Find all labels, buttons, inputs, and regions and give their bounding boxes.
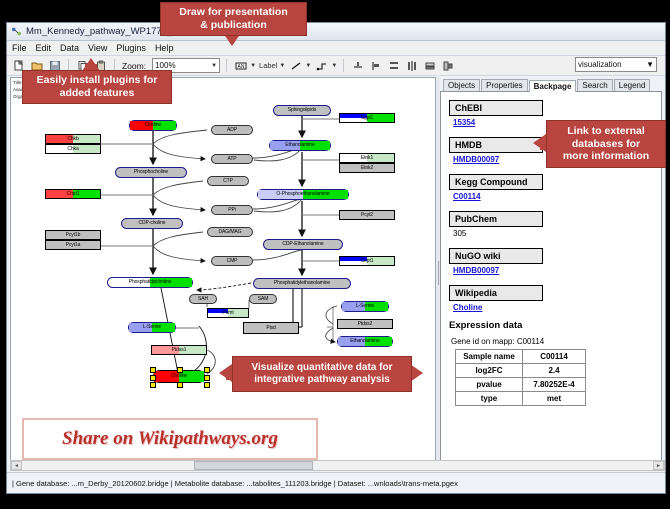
node-label: Chkb bbox=[67, 137, 78, 142]
selection-handle[interactable] bbox=[150, 367, 156, 373]
menu-edit[interactable]: Edit bbox=[36, 43, 52, 53]
selection-handle[interactable] bbox=[204, 382, 210, 388]
backpage-link-kegg[interactable]: C00114 bbox=[453, 192, 653, 201]
datanode-tool-group[interactable]: AN ▼ bbox=[233, 58, 256, 73]
align-left-icon[interactable] bbox=[368, 58, 383, 73]
toolbar-separator bbox=[226, 59, 227, 72]
table-cell-key: pvalue bbox=[456, 378, 523, 392]
node-ppi[interactable]: PPi bbox=[211, 205, 253, 215]
node-label: L-Serine bbox=[356, 304, 374, 309]
menu-file[interactable]: File bbox=[12, 43, 27, 53]
node-label: Phosphocholine bbox=[134, 170, 168, 175]
node-atp[interactable]: ATP bbox=[211, 154, 253, 164]
chevron-down-icon[interactable]: ▼ bbox=[279, 63, 285, 69]
callout-visualize-line1: Visualize quantitative data for bbox=[252, 362, 393, 374]
callout-draw: Draw for presentation & publication bbox=[160, 2, 307, 36]
node-label: Ethanolamine bbox=[350, 339, 379, 344]
node-label: SAH bbox=[198, 297, 208, 302]
node-l-serine-right[interactable]: L-Serine bbox=[341, 301, 389, 312]
gene-pcyt1a[interactable]: Pcyt1a bbox=[45, 240, 101, 250]
node-label: Pcyt1b bbox=[66, 233, 81, 238]
gene-id-line: Gene id on mapp: C00114 bbox=[451, 337, 653, 346]
menu-view[interactable]: View bbox=[88, 43, 107, 53]
zoom-label: Zoom: bbox=[122, 61, 146, 71]
node-phosphatidylcholine[interactable]: Phosphatidylcholine bbox=[107, 277, 193, 288]
table-cell-key: type bbox=[456, 392, 523, 406]
order-icon[interactable] bbox=[440, 58, 455, 73]
node-label: Etnk1 bbox=[361, 156, 373, 161]
statusbar: | Gene database: ...m_Derby_20120602.bri… bbox=[7, 472, 665, 493]
gene-cept1[interactable]: Cept1 bbox=[339, 256, 395, 266]
callout-plugins: Easily install plugins for added feature… bbox=[22, 70, 172, 104]
node-label: PPi bbox=[228, 208, 235, 213]
datanode-icon[interactable]: AN bbox=[233, 58, 248, 73]
node-label: CDP-choline bbox=[139, 221, 166, 226]
table-cell-value: 7.80252E-4 bbox=[523, 378, 586, 392]
node-cdp-choline[interactable]: CDP-choline bbox=[121, 218, 183, 229]
node-adp[interactable]: ADP bbox=[211, 125, 253, 135]
gene-etnk2[interactable]: Etnk2 bbox=[339, 163, 395, 173]
node-dag-mag[interactable]: DAG/MAG bbox=[207, 227, 253, 237]
node-sam[interactable]: SAM bbox=[249, 294, 277, 304]
backpage-link-nugo[interactable]: HMDB00097 bbox=[453, 266, 653, 275]
selection-handle[interactable] bbox=[150, 375, 156, 381]
node-label: Choline bbox=[171, 374, 187, 379]
visualization-combobox[interactable]: visualization ▼ bbox=[575, 57, 657, 72]
toolbar-separator bbox=[343, 59, 344, 72]
backpage-header-hmdb: HMDB bbox=[449, 137, 543, 153]
node-label: ATP bbox=[227, 157, 236, 162]
visualization-value: visualization bbox=[578, 60, 622, 69]
callout-link-line3: more information bbox=[563, 150, 649, 163]
gene-etnk1[interactable]: Etnk1 bbox=[339, 153, 395, 163]
node-cdp-ethanolamine[interactable]: CDP-Ethanolamine bbox=[263, 239, 343, 250]
node-label: Cept1 bbox=[361, 259, 374, 264]
label-tool-group[interactable]: Label ▼ bbox=[259, 61, 285, 70]
node-sphingolipids[interactable]: Sphingolipids bbox=[273, 105, 331, 116]
share-banner: Share on Wikipathways.org bbox=[22, 418, 318, 460]
menu-help[interactable]: Help bbox=[155, 43, 174, 53]
node-label: Phosphatidylethanolamine bbox=[274, 281, 330, 286]
chevron-down-icon: ▼ bbox=[211, 63, 217, 69]
chevron-down-icon[interactable]: ▼ bbox=[250, 63, 256, 69]
node-label: SAM bbox=[258, 297, 269, 302]
selection-handle[interactable] bbox=[150, 382, 156, 388]
node-label: Ethanolamine bbox=[285, 143, 314, 148]
line-icon[interactable] bbox=[288, 58, 303, 73]
gene-sgpl1[interactable]: Sgpl1 bbox=[339, 113, 395, 123]
align-columns-icon[interactable] bbox=[404, 58, 419, 73]
connector-tool-group[interactable]: ▼ bbox=[314, 58, 337, 73]
node-label: Pcyt1a bbox=[66, 243, 81, 248]
selection-handle[interactable] bbox=[204, 367, 210, 373]
chevron-down-icon: ▼ bbox=[646, 60, 654, 69]
node-label: Ptdss2 bbox=[358, 322, 373, 327]
node-l-serine-left[interactable]: L-Serine bbox=[128, 322, 176, 333]
node-sah[interactable]: SAH bbox=[189, 294, 217, 304]
tab-properties[interactable]: Properties bbox=[481, 79, 527, 91]
screenshot-root: Mm_Kennedy_pathway_WP1771_45176.gpml Fil… bbox=[0, 0, 670, 509]
callout-plugins-line1: Easily install plugins for bbox=[37, 74, 158, 87]
node-label: ADP bbox=[227, 128, 237, 133]
scroll-left-icon[interactable]: ◄ bbox=[11, 461, 22, 470]
table-row: log2FC 2.4 bbox=[456, 364, 586, 378]
node-label: CMP bbox=[227, 259, 238, 264]
chevron-down-icon[interactable]: ▼ bbox=[305, 63, 311, 69]
menubar[interactable]: File Edit Data View Plugins Help bbox=[7, 41, 665, 56]
menu-plugins[interactable]: Plugins bbox=[116, 43, 146, 53]
gene-chkb[interactable]: Chkb bbox=[45, 134, 101, 144]
gene-pisd[interactable]: Pisd bbox=[243, 322, 299, 334]
gene-ptdss2[interactable]: Ptdss2 bbox=[337, 319, 393, 329]
svg-text:AN: AN bbox=[237, 64, 244, 70]
status-text: | Gene database: ...m_Derby_20120602.bri… bbox=[7, 479, 458, 488]
side-tabstrip[interactable]: Objects Properties Backpage Search Legen… bbox=[440, 77, 662, 92]
scrollbar-thumb[interactable] bbox=[194, 461, 314, 470]
pathway-canvas[interactable]: Title: Availa Organi bbox=[10, 77, 436, 469]
table-row: Sample name C00114 bbox=[456, 350, 586, 364]
table-cell-value: met bbox=[523, 392, 586, 406]
table-cell-key: Sample name bbox=[456, 350, 523, 364]
gene-chpt1[interactable]: Chpt1 bbox=[45, 189, 101, 199]
window-titlebar: Mm_Kennedy_pathway_WP1771_45176.gpml bbox=[7, 23, 665, 41]
node-ethanolamine-lower[interactable]: Ethanolamine bbox=[337, 336, 393, 347]
gene-pcyt1b[interactable]: Pcyt1b bbox=[45, 230, 101, 240]
chevron-down-icon[interactable]: ▼ bbox=[331, 63, 337, 69]
tab-search[interactable]: Search bbox=[577, 79, 612, 91]
node-choline[interactable]: Choline bbox=[129, 120, 177, 131]
table-cell-value: C00114 bbox=[523, 350, 586, 364]
node-label: Phosphatidylcholine bbox=[129, 280, 172, 285]
backpage-header-pubchem: PubChem bbox=[449, 211, 543, 227]
node-ctp[interactable]: CTP bbox=[207, 176, 249, 186]
node-label: Chpt1 bbox=[67, 192, 80, 197]
gene-ptdss1[interactable]: Ptdss1 bbox=[151, 345, 207, 355]
gene-pcyt2[interactable]: Pcyt2 bbox=[339, 210, 395, 220]
node-cmp[interactable]: CMP bbox=[211, 256, 253, 266]
stack-icon[interactable] bbox=[422, 58, 437, 73]
node-label: DAG/MAG bbox=[219, 230, 242, 235]
callout-visualize-line2: integrative pathway analysis bbox=[252, 374, 393, 386]
expression-data-table: Sample name C00114 log2FC 2.4 pvalue 7.8… bbox=[455, 349, 586, 406]
node-label: Sgpl1 bbox=[361, 116, 373, 121]
node-label: Pisd bbox=[266, 326, 275, 331]
tab-objects[interactable]: Objects bbox=[443, 79, 480, 91]
tab-legend[interactable]: Legend bbox=[614, 79, 651, 91]
table-row: type met bbox=[456, 392, 586, 406]
node-label: Pcyt2 bbox=[361, 213, 373, 218]
selection-handle[interactable] bbox=[177, 382, 183, 388]
backpage-value-pubchem: 305 bbox=[453, 229, 653, 238]
callout-link: Link to external databases for more info… bbox=[546, 120, 666, 168]
node-label: CDP-Ethanolamine bbox=[282, 242, 323, 247]
callout-link-line2: databases for bbox=[563, 138, 649, 151]
node-label: Chka bbox=[67, 147, 78, 152]
align-rows-icon[interactable] bbox=[386, 58, 401, 73]
line-tool-group[interactable]: ▼ bbox=[288, 58, 311, 73]
node-label: Sphingolipids bbox=[288, 108, 316, 113]
table-cell-value: 2.4 bbox=[523, 364, 586, 378]
backpage-header-chebi: ChEBI bbox=[449, 100, 543, 116]
zoom-value: 100% bbox=[155, 61, 175, 70]
backpage-header-nugo: NuGO wiki bbox=[449, 248, 543, 264]
node-label: Ptdss1 bbox=[172, 348, 187, 353]
scroll-right-icon[interactable]: ► bbox=[653, 461, 664, 470]
menu-data[interactable]: Data bbox=[60, 43, 79, 53]
selection-handle[interactable] bbox=[204, 375, 210, 381]
node-label: L-Serine bbox=[143, 325, 161, 330]
gene-pemt[interactable]: Pemt bbox=[207, 308, 249, 318]
selection-handle[interactable] bbox=[177, 367, 183, 373]
align-top-icon[interactable] bbox=[350, 58, 365, 73]
node-o-phosphoethanolamine[interactable]: O-Phosphoethanolamine bbox=[257, 189, 349, 200]
callout-draw-line1: Draw for presentation bbox=[179, 6, 288, 19]
backpage-header-wikipedia: Wikipedia bbox=[449, 285, 543, 301]
expression-data-title: Expression data bbox=[449, 320, 653, 331]
node-phosphatidylethanolamine[interactable]: Phosphatidylethanolamine bbox=[253, 278, 351, 289]
node-phosphocholine[interactable]: Phosphocholine bbox=[115, 167, 187, 178]
node-label: O-Phosphoethanolamine bbox=[276, 192, 329, 197]
callout-link-line1: Link to external bbox=[563, 125, 649, 138]
pathvisio-icon bbox=[11, 26, 22, 37]
label-tool-text: Label bbox=[259, 61, 277, 70]
callout-visualize: Visualize quantitative data for integrat… bbox=[232, 356, 412, 392]
node-ethanolamine[interactable]: Ethanolamine bbox=[269, 140, 331, 151]
backpage-link-wikipedia[interactable]: Choline bbox=[453, 303, 653, 312]
gene-chka[interactable]: Chka bbox=[45, 144, 101, 154]
horizontal-scrollbar[interactable]: ◄ ► bbox=[10, 460, 665, 471]
callout-plugins-line2: added features bbox=[37, 87, 158, 100]
node-label: Choline bbox=[145, 123, 161, 128]
backpage-header-kegg: Kegg Compound bbox=[449, 174, 543, 190]
tab-backpage[interactable]: Backpage bbox=[529, 80, 577, 92]
table-cell-key: log2FC bbox=[456, 364, 523, 378]
node-label: Pemt bbox=[222, 311, 233, 316]
connector-icon[interactable] bbox=[314, 58, 329, 73]
callout-draw-line2: & publication bbox=[179, 19, 288, 32]
node-label: Etnk2 bbox=[361, 166, 373, 171]
node-label: CTP bbox=[223, 179, 233, 184]
share-banner-text: Share on Wikipathways.org bbox=[62, 428, 278, 450]
table-row: pvalue 7.80252E-4 bbox=[456, 378, 586, 392]
